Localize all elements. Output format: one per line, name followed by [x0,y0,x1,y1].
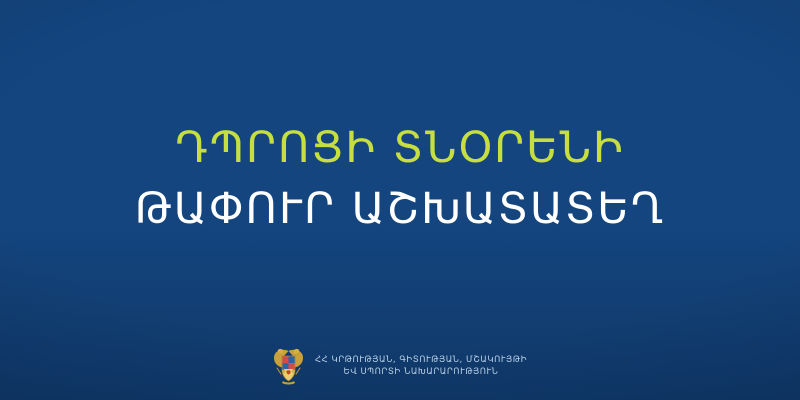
headline-block: ԴՊՐՈՑԻ ՏՆՕՐԵՆԻ ԹԱՓՈՒՐ ԱՇԽԱՏԱՏԵՂ [0,118,800,240]
announcement-banner: ԴՊՐՈՑԻ ՏՆՕՐԵՆԻ ԹԱՓՈՒՐ ԱՇԽԱՏԱՏԵՂ [0,0,800,400]
footer-attribution: ՀՀ ԿՐԹՈՒԹՅԱՆ, ԳԻՏՈՒԹՅԱՆ, ՄՇԱԿՈՒՅԹԻ ԵՎ ՍՊ… [0,346,800,386]
ministry-name-line-1: ՀՀ ԿՐԹՈՒԹՅԱՆ, ԳԻՏՈՒԹՅԱՆ, ՄՇԱԿՈՒՅԹԻ [315,354,527,367]
armenia-coat-of-arms-icon [273,346,304,386]
ministry-name-line-2: ԵՎ ՍՊՈՐՏԻ ՆԱԽԱՐԱՐՈՒԹՅՈՒՆ [315,366,527,379]
ministry-name: ՀՀ ԿՐԹՈՒԹՅԱՆ, ԳԻՏՈՒԹՅԱՆ, ՄՇԱԿՈՒՅԹԻ ԵՎ ՍՊ… [315,354,527,379]
headline-line-2: ԹԱՓՈՒՐ ԱՇԽԱՏԱՏԵՂ [0,179,800,240]
headline-line-1: ԴՊՐՈՑԻ ՏՆՕՐԵՆԻ [0,118,800,179]
